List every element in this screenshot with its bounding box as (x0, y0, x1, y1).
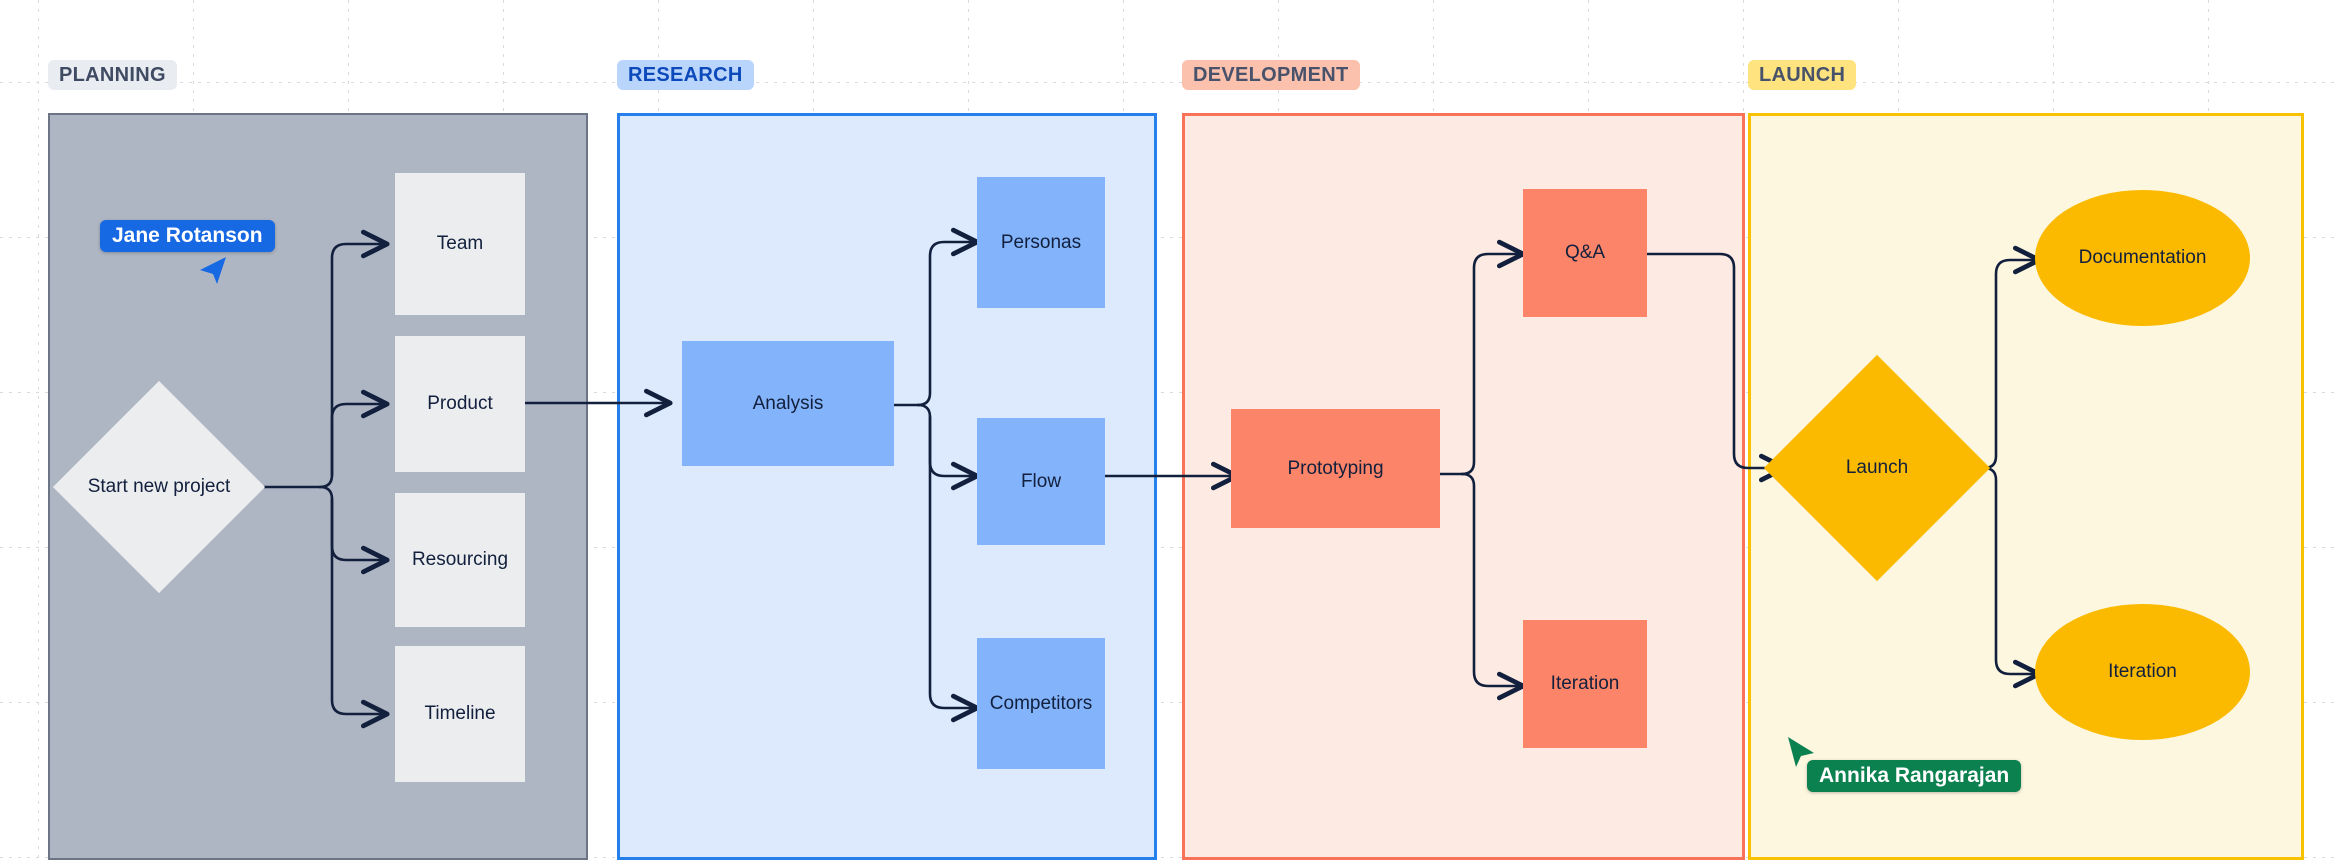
node-label: Competitors (990, 692, 1092, 716)
lane-header-development[interactable]: DEVELOPMENT (1182, 60, 1360, 90)
flowchart-canvas[interactable]: PLANNING RESEARCH DEVELOPMENT LAUNCH (0, 0, 2336, 860)
node-launch[interactable]: Launch (1797, 388, 1957, 548)
node-prototyping[interactable]: Prototyping (1231, 409, 1440, 528)
cursor-label-annika[interactable]: Annika Rangarajan (1807, 760, 2021, 792)
node-label: Flow (1021, 470, 1061, 494)
node-label: Launch (1846, 456, 1908, 480)
node-label: Start new project (88, 475, 231, 499)
grid-line-vertical (38, 0, 39, 860)
node-label: Iteration (2108, 660, 2177, 684)
grid-line-horizontal (0, 82, 2336, 83)
node-label: Personas (1001, 231, 1081, 255)
node-competitors[interactable]: Competitors (977, 638, 1105, 769)
node-qa[interactable]: Q&A (1523, 189, 1647, 317)
node-launch-iteration[interactable]: Iteration (2035, 604, 2250, 740)
node-product[interactable]: Product (395, 336, 525, 472)
lane-header-launch[interactable]: LAUNCH (1748, 60, 1856, 90)
node-label: Prototyping (1287, 457, 1383, 481)
node-label: Q&A (1565, 241, 1605, 265)
node-label: Timeline (424, 702, 495, 726)
node-label: Team (437, 232, 483, 256)
node-team[interactable]: Team (395, 173, 525, 315)
node-label: Analysis (753, 392, 824, 416)
node-start-new-project[interactable]: Start new project (84, 412, 234, 562)
node-resourcing[interactable]: Resourcing (395, 493, 525, 627)
node-personas[interactable]: Personas (977, 177, 1105, 308)
node-documentation[interactable]: Documentation (2035, 190, 2250, 326)
node-label: Product (427, 392, 492, 416)
lane-header-planning[interactable]: PLANNING (48, 60, 177, 90)
node-label: Iteration (1551, 672, 1620, 696)
node-timeline[interactable]: Timeline (395, 646, 525, 782)
node-label: Resourcing (412, 548, 508, 572)
node-dev-iteration[interactable]: Iteration (1523, 620, 1647, 748)
cursor-label-jane[interactable]: Jane Rotanson (100, 220, 275, 252)
lane-header-research[interactable]: RESEARCH (617, 60, 754, 90)
node-label: Documentation (2079, 246, 2207, 270)
cursor-pointer-icon (196, 253, 228, 287)
node-flow[interactable]: Flow (977, 418, 1105, 545)
node-analysis[interactable]: Analysis (682, 341, 894, 466)
